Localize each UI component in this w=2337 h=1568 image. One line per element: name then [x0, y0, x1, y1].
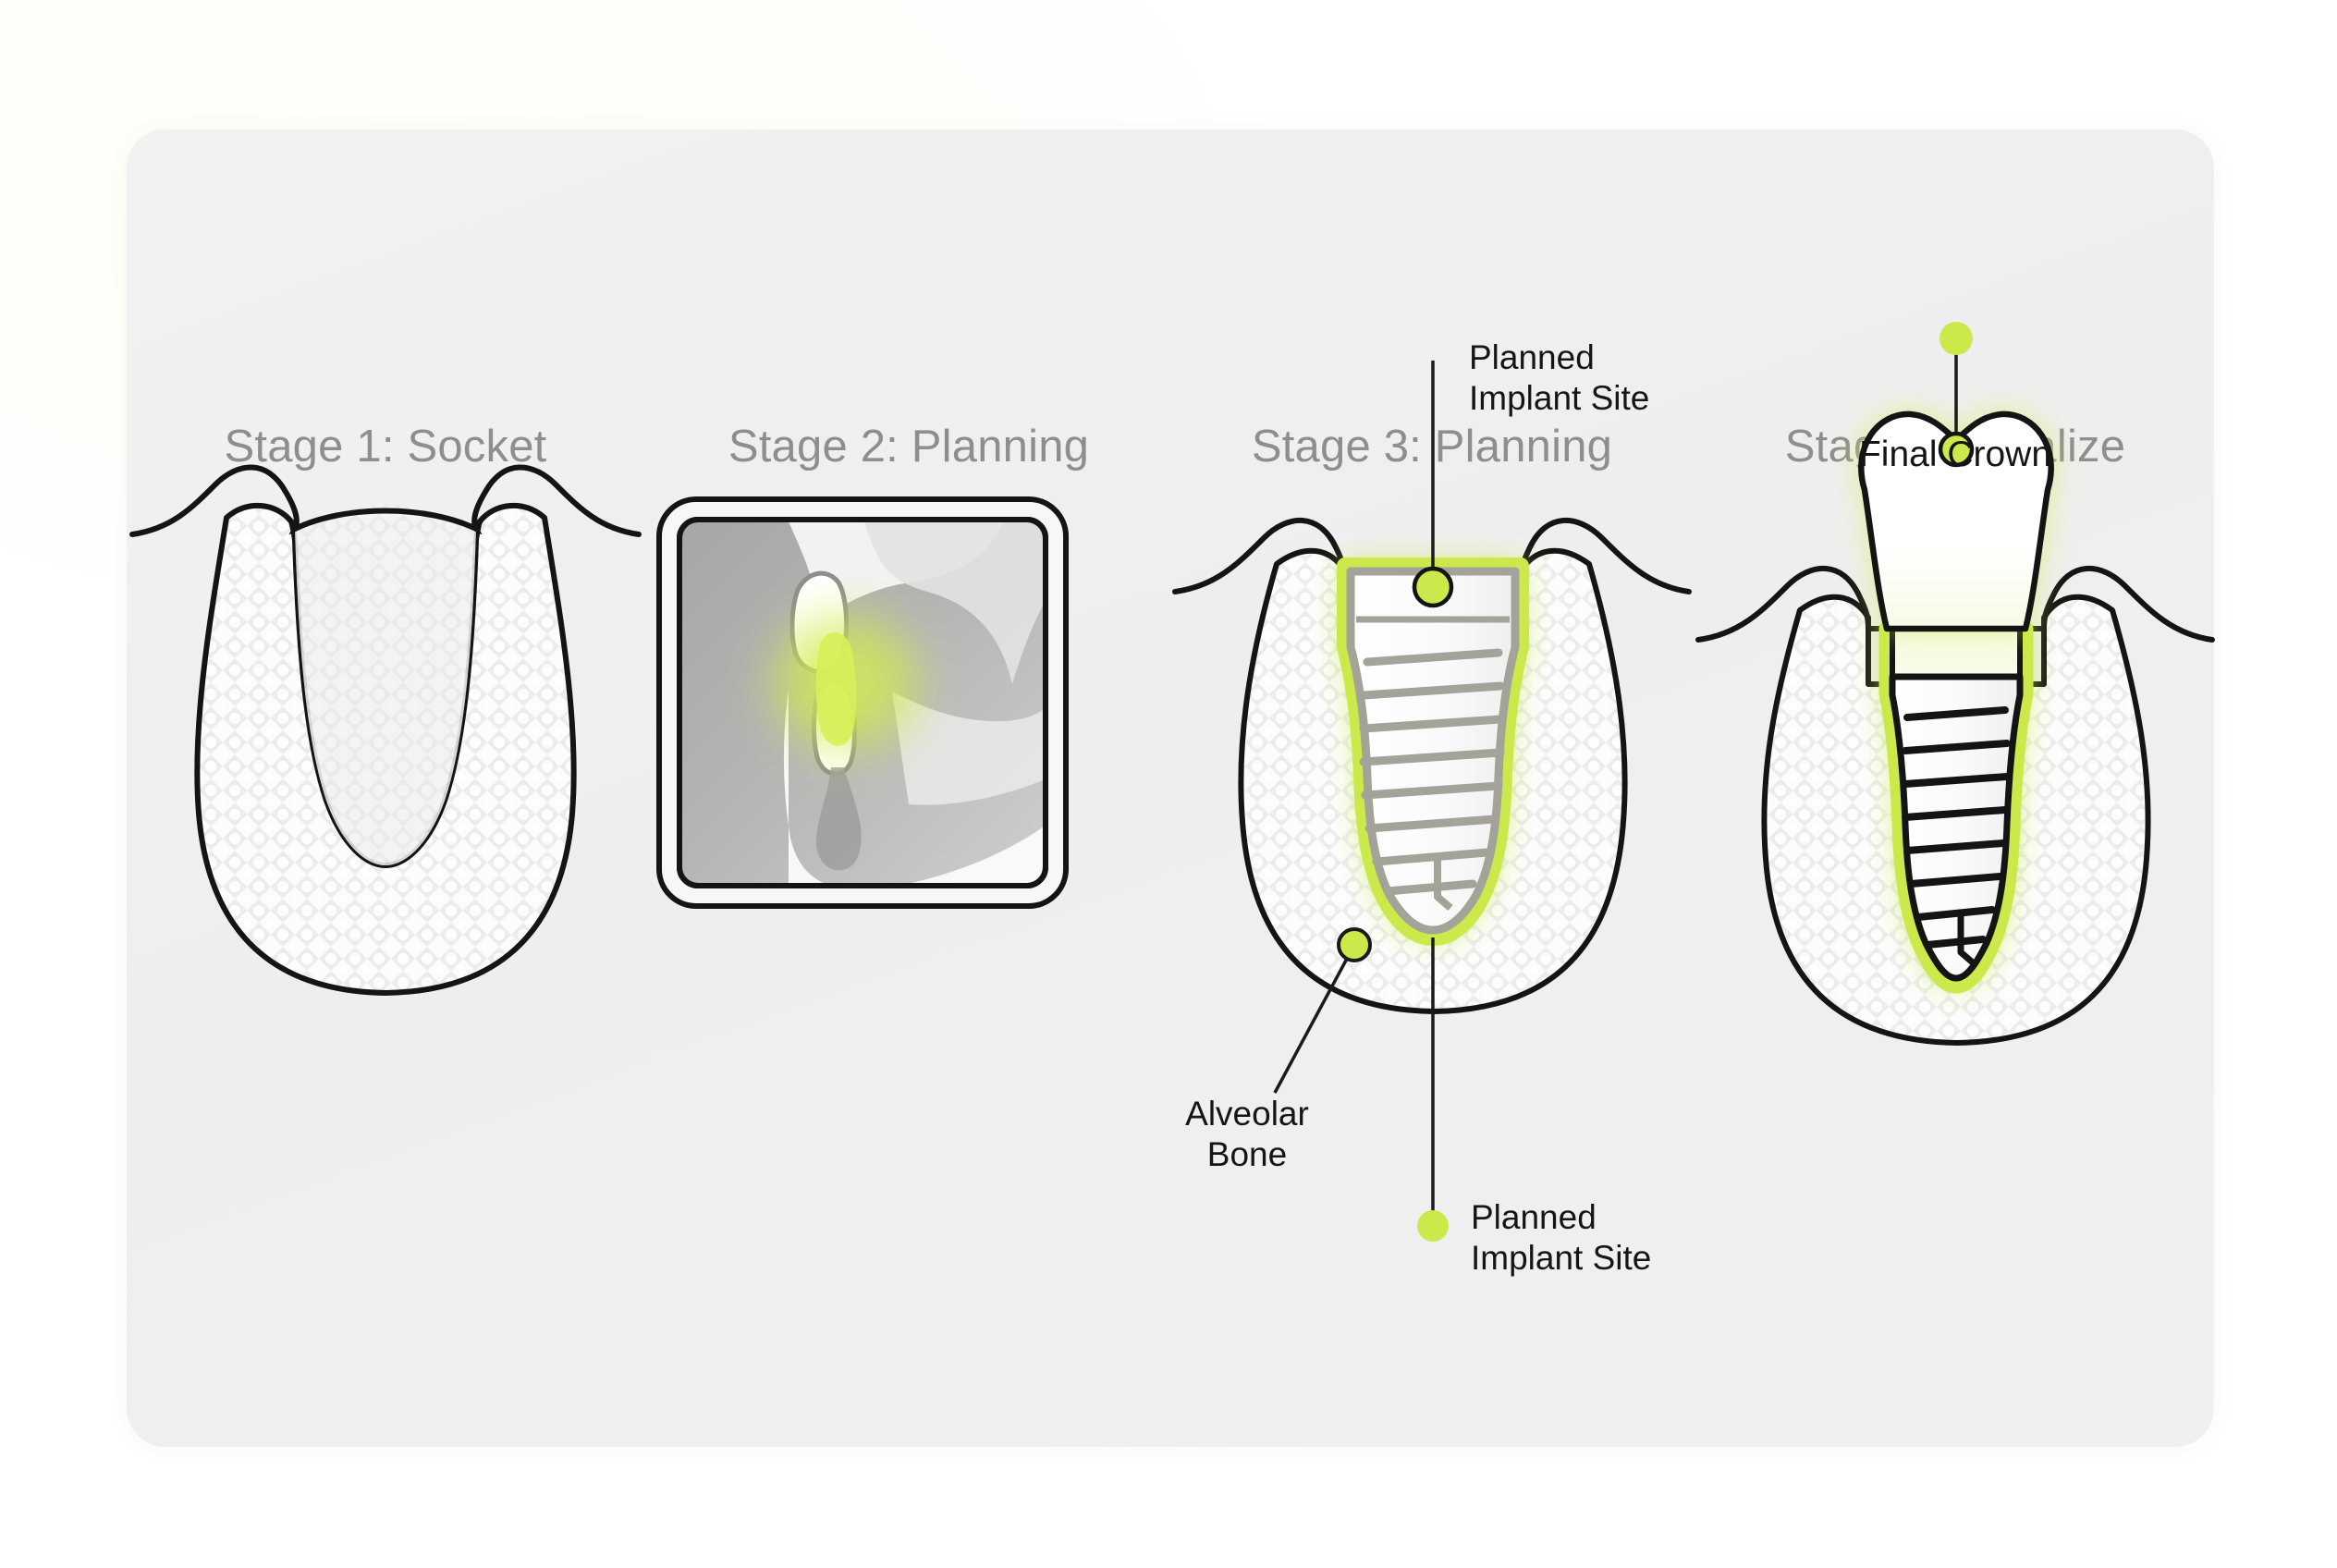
label-line-1: Planned [1471, 1197, 1651, 1238]
stage-2-panel: Stage 2: Planning [650, 129, 1168, 1447]
label-planned-implant-site-top: Planned Implant Site [1469, 337, 1649, 418]
stage-2-illustration [650, 129, 1168, 1447]
marker-final-crown-label[interactable] [1939, 322, 1973, 355]
stage-1-illustration [127, 129, 644, 1447]
stage-4-illustration [1696, 129, 2214, 1447]
marker-planned-site-top[interactable] [1414, 569, 1451, 606]
xray-content [678, 518, 1051, 897]
marker-alveolar-bone[interactable] [1339, 929, 1370, 961]
label-line-1: Final Crown [1859, 435, 2051, 474]
implant-group [1887, 629, 2025, 986]
label-line-1: Planned [1469, 337, 1649, 378]
label-line-2: Bone [1136, 1134, 1358, 1175]
label-line-1: Alveolar [1136, 1094, 1358, 1134]
stage-1-panel: Stage 1: Socket [127, 129, 644, 1447]
implant-abutment [1892, 629, 2020, 677]
label-planned-implant-site-bottom: Planned Implant Site [1471, 1197, 1651, 1278]
label-final-crown: Final Crown [1696, 435, 2214, 475]
marker-planned-site-bottom[interactable] [1417, 1210, 1449, 1242]
diagram-card: Stage 1: Socket Stage 2: Planning [127, 129, 2214, 1447]
label-line-2: Implant Site [1471, 1238, 1651, 1279]
socket-bone-group [132, 467, 639, 993]
label-line-2: Implant Site [1469, 378, 1649, 419]
stage-4-panel: Stage 4: Finalize [1696, 129, 2214, 1447]
planned-implant-group [1345, 566, 1521, 937]
radiograph-panel [659, 499, 1066, 906]
stage-3-panel: Stage 3: Planning [1173, 129, 1691, 1447]
label-alveolar-bone: Alveolar Bone [1136, 1094, 1358, 1174]
xray-planned-site-core [816, 632, 857, 746]
